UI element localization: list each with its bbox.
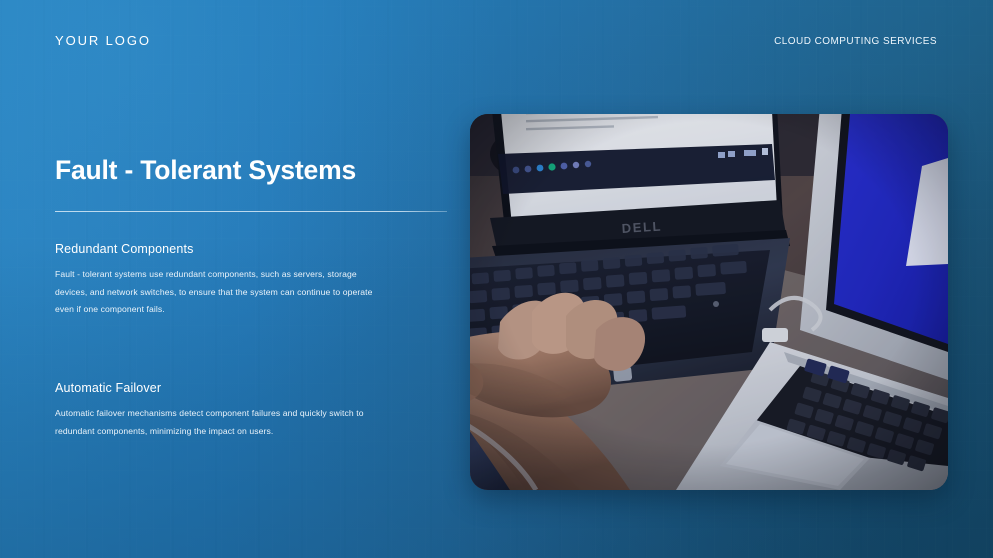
photo-illustration: DELL: [470, 114, 948, 490]
block-heading: Redundant Components: [55, 242, 375, 256]
content-block-automatic-failover: Automatic Failover Automatic failover me…: [55, 381, 373, 440]
block-body: Fault - tolerant systems use redundant c…: [55, 266, 375, 319]
block-heading: Automatic Failover: [55, 381, 373, 395]
page-title: Fault - Tolerant Systems: [55, 155, 356, 186]
block-body: Automatic failover mechanisms detect com…: [55, 405, 373, 440]
title-divider: [55, 211, 447, 212]
brand-logo: YOUR LOGO: [55, 33, 151, 48]
content-block-redundant-components: Redundant Components Fault - tolerant sy…: [55, 242, 375, 319]
slide: YOUR LOGO CLOUD COMPUTING SERVICES Fault…: [0, 0, 993, 558]
deck-topic-label: CLOUD COMPUTING SERVICES: [774, 36, 937, 47]
slide-photo: DELL: [470, 114, 948, 490]
